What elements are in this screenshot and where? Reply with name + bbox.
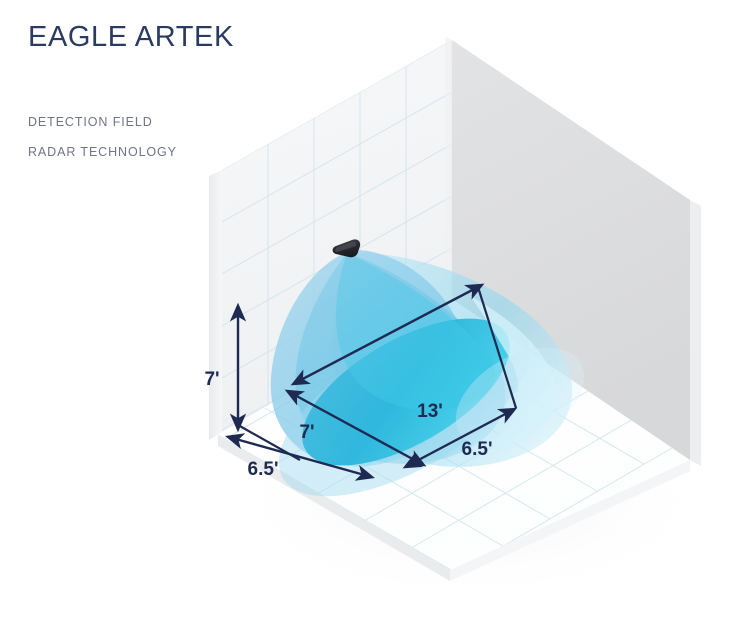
- dimension-label-height: 7': [204, 369, 219, 390]
- dimension-label-field-near: 7': [299, 422, 314, 443]
- dimension-label-floor-left: 6.5': [248, 459, 279, 480]
- dimension-label-floor-right: 6.5': [462, 439, 493, 460]
- radar-detection-field-diagram: 7' 6.5' 7' 13' 6.5': [0, 0, 753, 619]
- diagram-page: EAGLE ARTEK DETECTION FIELD RADAR TECHNO…: [0, 0, 753, 619]
- dimension-label-field-long: 13': [417, 401, 443, 422]
